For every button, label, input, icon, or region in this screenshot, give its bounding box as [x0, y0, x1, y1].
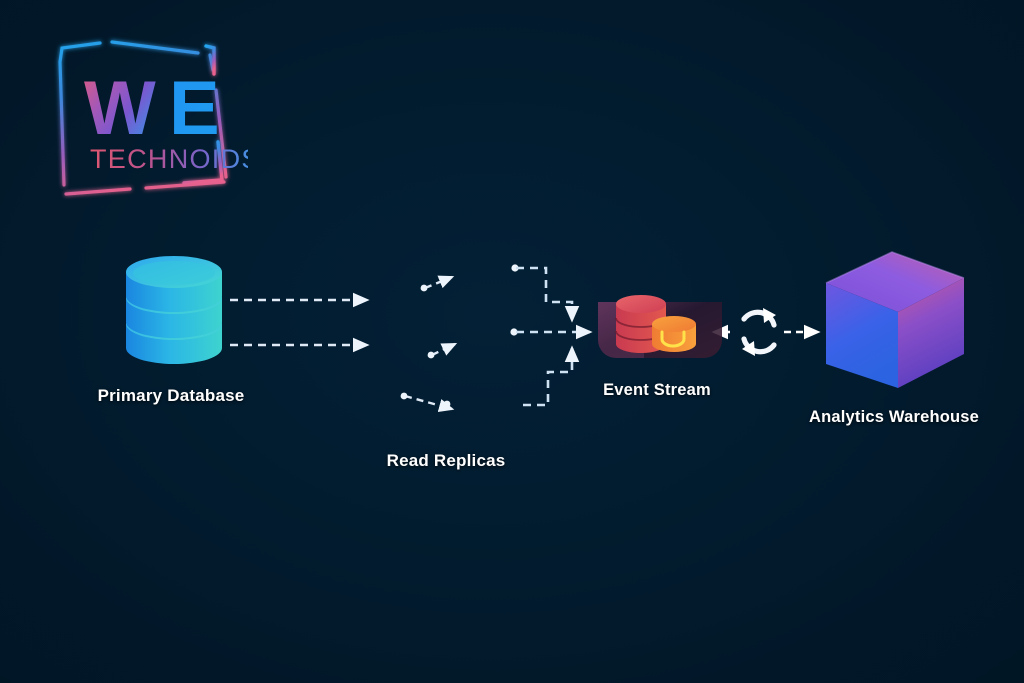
cube-icon — [820, 250, 970, 392]
read-replicas-cluster-icon — [362, 232, 537, 437]
event-stream-icon — [596, 288, 726, 370]
primary-database-icon — [118, 252, 230, 370]
node-label-analytics-warehouse: Analytics Warehouse — [809, 408, 979, 427]
node-label-primary-database: Primary Database — [98, 386, 245, 406]
db-disc-top — [126, 256, 222, 312]
diagram-canvas: W E TECHNOIDS — [0, 0, 1024, 683]
bidirectional-sync-icon — [733, 305, 785, 359]
event-stream-db-front — [652, 316, 696, 352]
node-label-event-stream: Event Stream — [603, 381, 711, 400]
node-label-read-replicas: Read Replicas — [387, 451, 506, 471]
